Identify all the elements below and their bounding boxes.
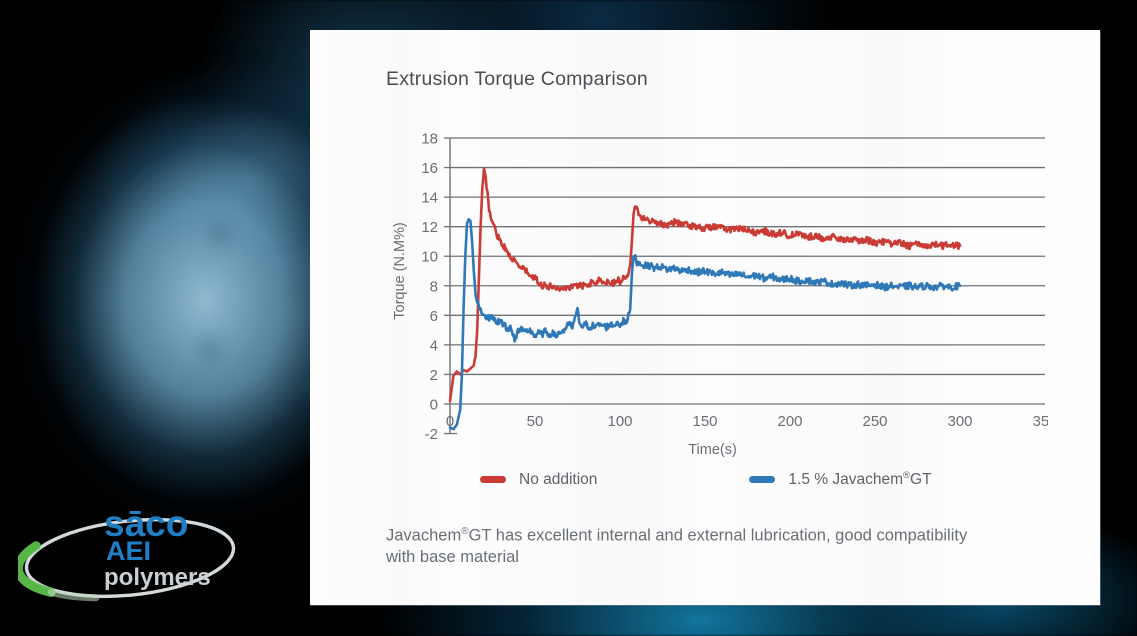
legend-item-no-addition: No addition [480,471,597,489]
chart-axis-titles: Time(s)Torque (N.M%) [392,222,737,458]
chart-svg: -2024681012141618050100150200250300350 T… [388,122,1048,482]
torque-line-chart: -2024681012141618050100150200250300350 T… [388,122,1048,482]
y-tick-label-6: 6 [430,308,438,325]
legend-label-javachem: 1.5 % Javachem®GT [788,470,931,489]
video-frame: sāco AEI polymers Extrusion Torque Compa… [0,0,1137,636]
presentation-slide: Extrusion Torque Comparison -20246810121… [310,30,1100,605]
x-tick-label-200: 200 [777,413,802,430]
chart-tick-labels: -2024681012141618050100150200250300350 [421,131,1048,444]
legend-label-javachem-post: GT [910,471,932,488]
chart-legend: No addition 1.5 % Javachem®GT [480,470,1040,489]
y-tick-label-18: 18 [421,131,438,148]
caption-part-2: GT has excellent internal and external l… [386,527,967,567]
x-axis-title: Time(s) [688,442,737,458]
logo-line-aei: AEI [106,536,151,566]
y-tick-label-16: 16 [421,160,438,177]
registered-trademark-icon: ® [903,470,910,481]
legend-swatch-blue [749,476,775,483]
legend-item-javachem: 1.5 % Javachem®GT [749,470,931,489]
legend-label-no-addition: No addition [519,471,597,489]
saco-aei-polymers-logo: sāco AEI polymers [18,498,258,608]
slide-title: Extrusion Torque Comparison [386,68,648,91]
y-tick-label-12: 12 [421,219,438,236]
x-tick-label-100: 100 [607,413,632,430]
slide-caption: Javachem®GT has excellent internal and e… [386,525,986,569]
x-tick-label-250: 250 [862,413,887,430]
y-tick-label-8: 8 [430,278,438,295]
logo-svg: sāco AEI polymers [18,498,258,608]
y-axis-title: Torque (N.M%) [392,222,408,320]
y-tick-label-4: 4 [430,337,438,354]
x-tick-label-150: 150 [692,413,717,430]
y-tick-label-10: 10 [421,249,438,266]
x-tick-label-350: 350 [1032,413,1048,430]
legend-label-javachem-pre: 1.5 % Javachem [788,471,903,488]
registered-trademark-icon: ® [461,526,468,537]
chart-gridlines [450,138,1045,404]
y-tick-label--2: -2 [425,426,438,443]
chart-series [450,169,960,430]
x-tick-label-50: 50 [527,413,544,430]
y-tick-label-0: 0 [430,397,438,414]
legend-swatch-red [480,476,506,483]
caption-part-1: Javachem [386,527,461,545]
series-line-javachem-gt [450,219,960,429]
x-tick-label-300: 300 [947,413,972,430]
logo-line-polymers: polymers [104,564,211,591]
y-tick-label-14: 14 [421,190,438,207]
y-tick-label-2: 2 [430,367,438,384]
